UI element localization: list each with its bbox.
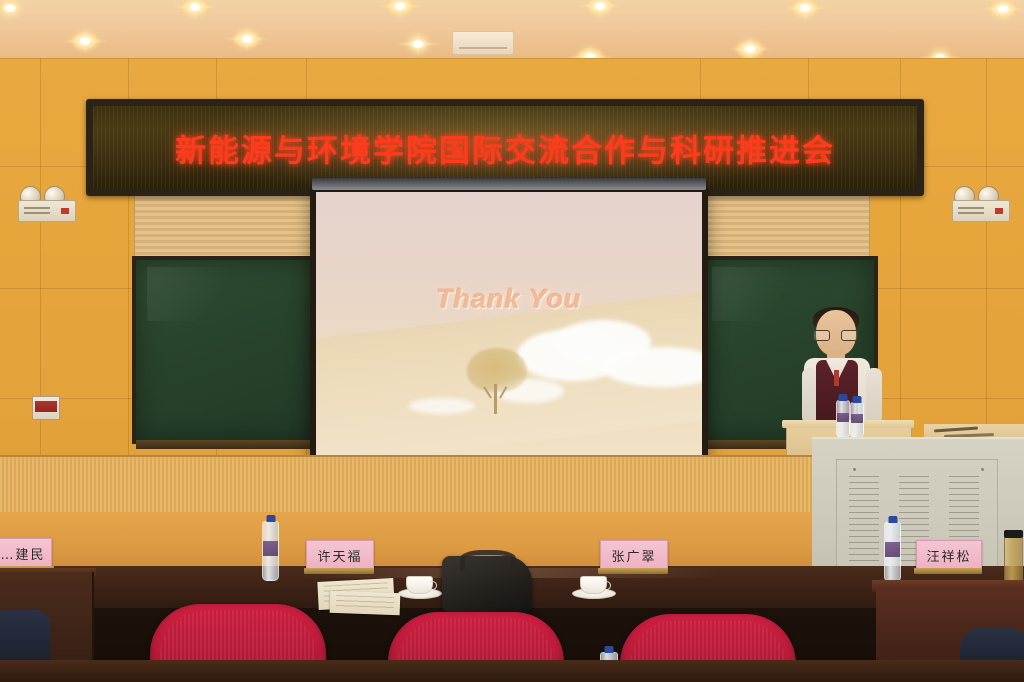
shoulder-bag[interactable] <box>442 556 532 614</box>
led-banner-text: 新能源与环境学院国际交流合作与科研推进会 <box>93 125 917 170</box>
fire-safety-sign <box>32 396 60 420</box>
projection-screen: Thank You <box>310 186 708 476</box>
foreground-desk-edge <box>0 660 1024 682</box>
glasses-icon <box>841 330 858 341</box>
ceiling-light <box>408 38 428 50</box>
water-bottle[interactable] <box>836 400 850 438</box>
ceiling-light <box>385 0 415 15</box>
ceiling-light <box>585 0 615 15</box>
tea-jar[interactable] <box>1004 536 1023 586</box>
window-blind <box>700 188 870 260</box>
emergency-light-icon <box>18 186 74 220</box>
name-placard: 汪祥松 <box>916 540 982 570</box>
presentation-slide: Thank You <box>316 192 702 470</box>
speaker-arm-right <box>866 368 882 424</box>
ceiling-light <box>0 2 20 14</box>
glasses-icon <box>813 330 830 341</box>
name-placard: …建民 <box>0 538 52 568</box>
ceiling <box>0 0 1024 64</box>
emergency-light-icon <box>952 186 1008 220</box>
teacup[interactable] <box>580 576 607 594</box>
ceiling-vent-panel <box>452 31 514 55</box>
name-placard: 张广翠 <box>600 540 668 570</box>
ceiling-light <box>232 30 262 48</box>
screen-roller-case <box>312 178 706 190</box>
water-bottle[interactable] <box>850 402 864 438</box>
conference-room-scene: 新能源与环境学院国际交流合作与科研推进会 Thank You <box>0 0 1024 682</box>
document-paper[interactable] <box>330 591 401 615</box>
ceiling-light <box>735 40 765 58</box>
speaker-tie <box>834 370 839 386</box>
water-bottle[interactable] <box>262 521 279 581</box>
ceiling-light <box>70 32 100 50</box>
ceiling-light <box>790 0 820 17</box>
teacup[interactable] <box>406 576 433 594</box>
slide-thank-you-text: Thank You <box>316 284 702 315</box>
ceiling-light <box>988 0 1018 18</box>
name-placard: 许天福 <box>306 540 374 570</box>
window-blind <box>134 188 312 260</box>
water-bottle[interactable] <box>884 522 901 582</box>
blackboard-left <box>132 256 318 444</box>
ceiling-light <box>180 0 210 16</box>
